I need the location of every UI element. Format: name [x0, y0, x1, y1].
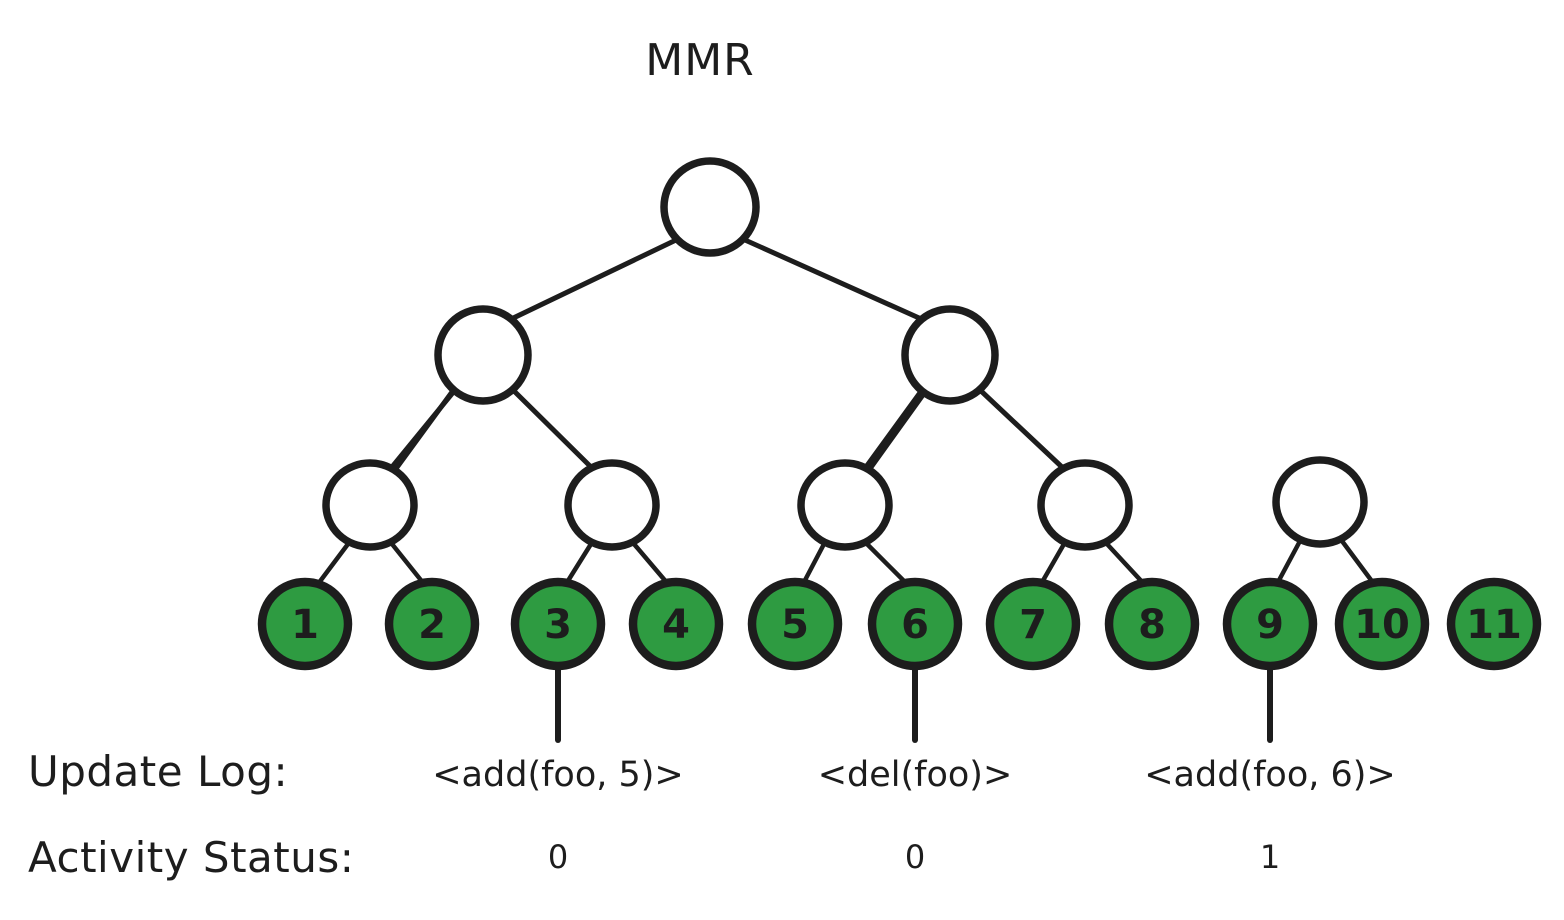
internal-node-root[interactable]	[664, 161, 756, 253]
internal-node-right-left[interactable]	[801, 463, 889, 547]
stem-group	[558, 666, 1270, 740]
leaf-node[interactable]: 4	[633, 582, 719, 666]
edge-nll-to-leaf2	[392, 544, 424, 584]
leaf-label-4: 4	[662, 602, 690, 648]
leaf-node[interactable]: 5	[752, 582, 838, 666]
leaf-label-5: 5	[781, 602, 809, 648]
internal-node-group	[326, 161, 1364, 547]
edge-nlr-to-leaf3	[566, 544, 591, 584]
diagram-canvas: MMR	[0, 0, 1564, 920]
edge-nl-to-nll-alt	[395, 392, 452, 470]
edge-nr-to-nrl	[866, 390, 922, 467]
leaf-node[interactable]: 6	[872, 582, 958, 666]
activity-status-value-3: 0	[548, 838, 568, 876]
leaf-node[interactable]: 11	[1451, 582, 1537, 666]
leaf-label-6: 6	[901, 602, 929, 648]
leaf-node-group: 1234567891011	[262, 582, 1537, 666]
leaf-node[interactable]: 1	[262, 582, 348, 666]
activity-status-label: Activity Status:	[28, 833, 354, 882]
log-entry: <add(foo, 6)>1	[1144, 755, 1396, 876]
activity-status-value-6: 0	[905, 838, 925, 876]
leaf-node[interactable]: 10	[1339, 582, 1425, 666]
update-log-label: Update Log:	[28, 747, 288, 796]
leaf-label-10: 10	[1354, 602, 1410, 648]
edge-nrl-to-leaf5	[803, 544, 824, 584]
leaf-label-8: 8	[1138, 602, 1166, 648]
leaf-node[interactable]: 3	[515, 582, 601, 666]
leaf-label-3: 3	[544, 602, 572, 648]
diagram-title: MMR	[645, 35, 755, 86]
internal-node-left-left[interactable]	[326, 463, 414, 547]
activity-status-value-9: 1	[1260, 838, 1280, 876]
leaf-node[interactable]: 2	[389, 582, 475, 666]
edge-nr-to-nrl-alt	[869, 392, 925, 470]
leaf-node[interactable]: 7	[990, 582, 1076, 666]
edge-nrl-to-leaf6	[867, 544, 907, 584]
leaf-label-9: 9	[1256, 602, 1284, 648]
log-entry: <add(foo, 5)>0	[432, 755, 684, 876]
edge-nlr-to-leaf4	[634, 544, 668, 584]
edge-nr-to-nrr	[980, 390, 1063, 468]
leaf-label-2: 2	[418, 602, 446, 648]
edge-root-to-right	[745, 240, 928, 322]
internal-node-left[interactable]	[438, 309, 528, 401]
internal-node-right-right[interactable]	[1041, 463, 1129, 547]
log-entry-group: <add(foo, 5)>0<del(foo)>0<add(foo, 6)>1	[432, 755, 1396, 876]
edge-np3-to-leaf10	[1342, 541, 1374, 584]
edge-nll-to-leaf1	[318, 544, 348, 584]
internal-node-left-right[interactable]	[568, 463, 656, 547]
leaf-label-7: 7	[1019, 602, 1047, 648]
internal-node-peak-third[interactable]	[1276, 460, 1364, 544]
leaf-node[interactable]: 8	[1109, 582, 1195, 666]
internal-node-right[interactable]	[905, 309, 995, 401]
edge-nrr-to-leaf8	[1107, 544, 1144, 584]
edge-nrr-to-leaf7	[1041, 544, 1064, 584]
edge-np3-to-leaf9	[1277, 541, 1300, 584]
update-log-entry-3: <add(foo, 5)>	[432, 755, 684, 795]
log-entry: <del(foo)>0	[818, 755, 1013, 876]
edge-nl-to-nlr	[513, 390, 592, 468]
leaf-node[interactable]: 9	[1227, 582, 1313, 666]
update-log-entry-9: <add(foo, 6)>	[1144, 755, 1396, 795]
leaf-label-11: 11	[1466, 602, 1522, 648]
leaf-label-1: 1	[291, 602, 319, 648]
edge-root-to-left	[505, 240, 676, 322]
mmr-tree-diagram: MMR	[0, 0, 1564, 920]
update-log-entry-6: <del(foo)>	[818, 755, 1013, 795]
